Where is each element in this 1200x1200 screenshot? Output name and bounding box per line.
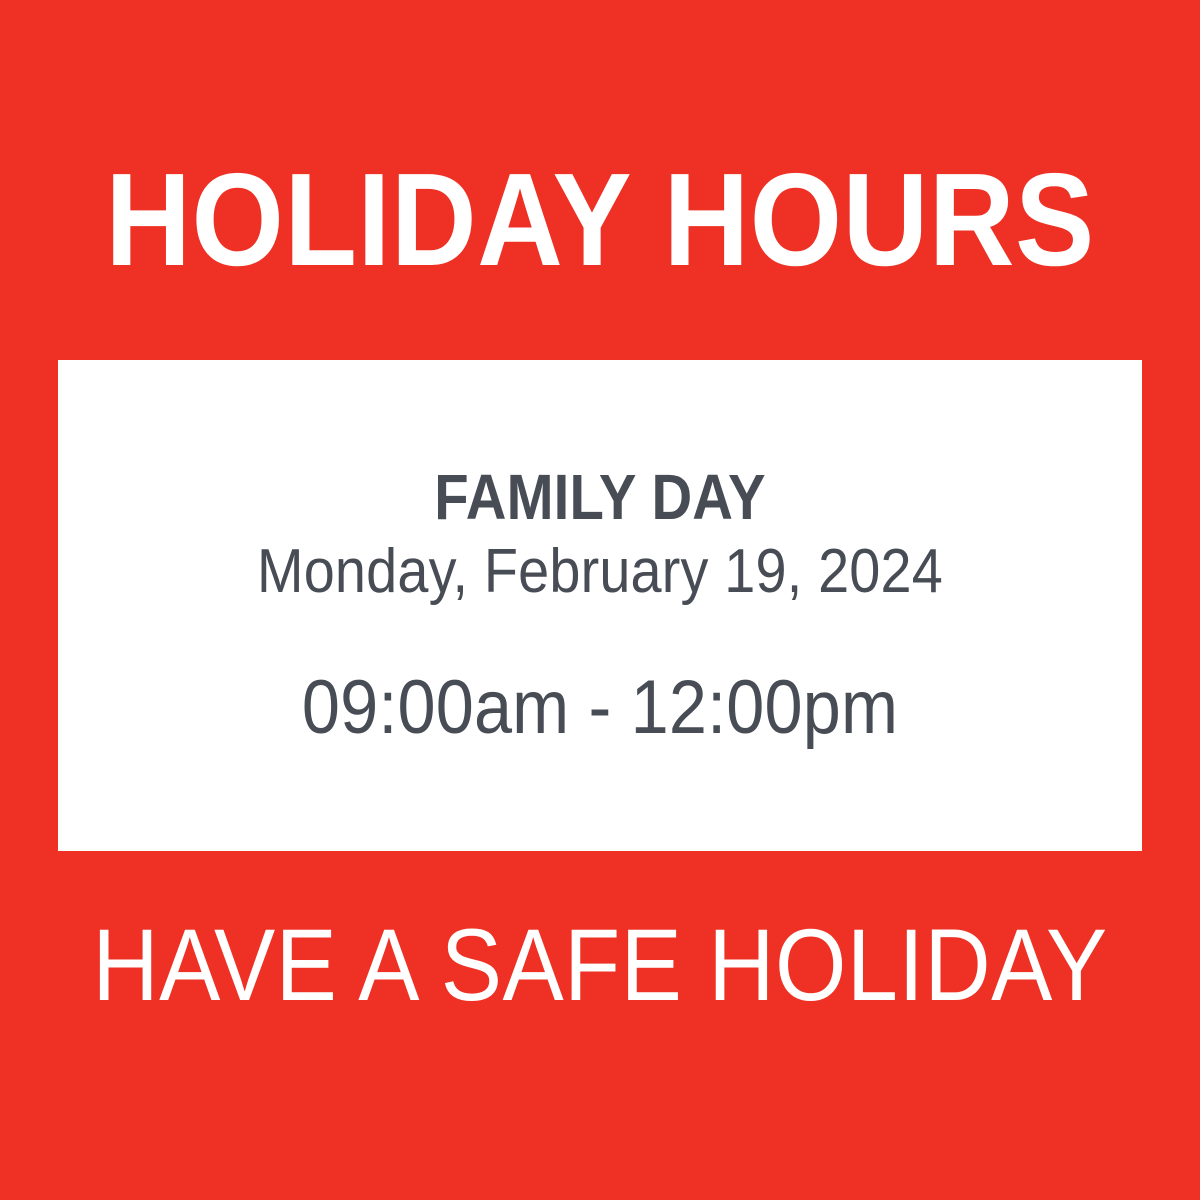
footer-message: HAVE A SAFE HOLIDAY — [60, 910, 1140, 1020]
holiday-date: Monday, February 19, 2024 — [112, 530, 1088, 614]
holiday-hours-poster: HOLIDAY HOURS FAMILY DAY Monday, Februar… — [0, 0, 1200, 1200]
holiday-hours-range: 09:00am - 12:00pm — [112, 670, 1088, 746]
holiday-name: FAMILY DAY — [123, 465, 1077, 530]
holiday-info-content: FAMILY DAY Monday, February 19, 2024 09:… — [58, 465, 1142, 746]
page-title: HOLIDAY HOURS — [60, 150, 1140, 290]
holiday-info-card: FAMILY DAY Monday, February 19, 2024 09:… — [58, 360, 1142, 851]
